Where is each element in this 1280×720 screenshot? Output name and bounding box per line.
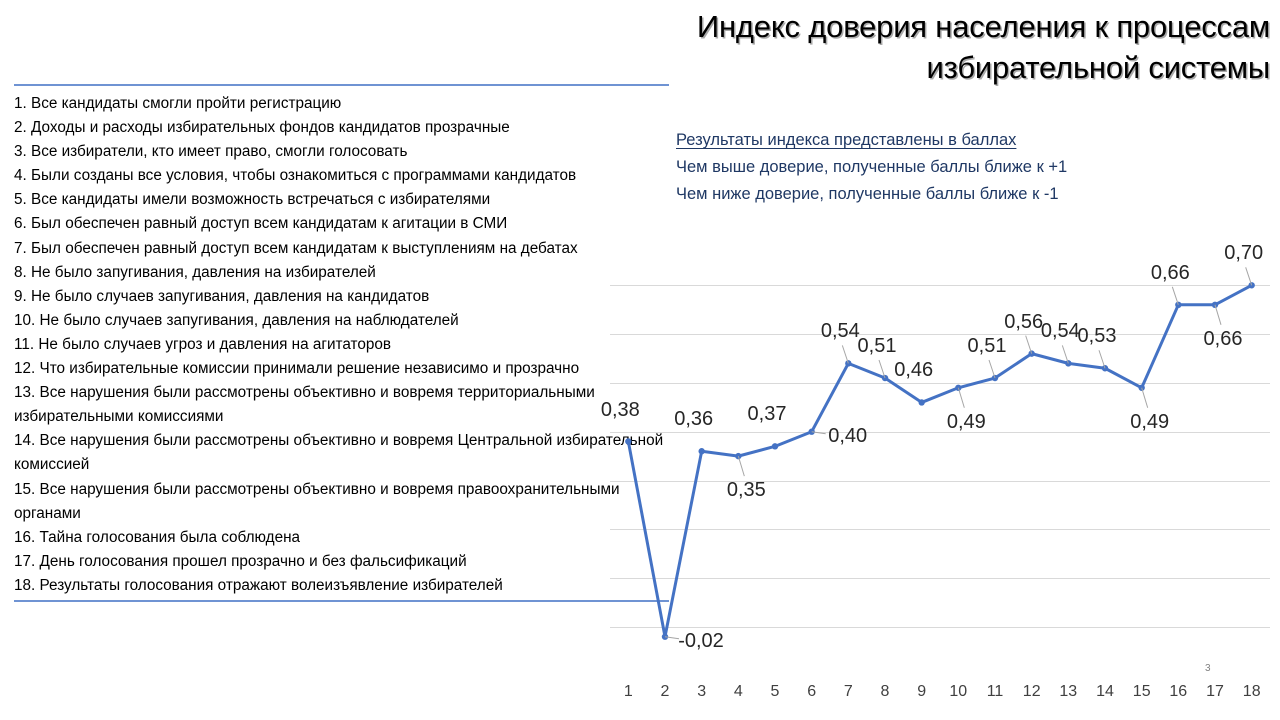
series-marker <box>698 448 704 454</box>
data-label: -0,02 <box>678 631 724 651</box>
label-leader-line <box>1246 267 1252 285</box>
criteria-list: 1. Все кандидаты смогли пройти регистрац… <box>14 92 669 598</box>
list-item: 17. День голосования прошел прозрачно и … <box>14 550 669 574</box>
label-leader-line <box>842 345 848 363</box>
data-label: 0,53 <box>1078 326 1117 346</box>
panel-bottom-divider <box>14 600 669 602</box>
series-marker <box>1212 302 1218 308</box>
data-label: 0,35 <box>727 480 766 500</box>
x-axis-tick-label: 15 <box>1133 684 1151 700</box>
data-label: 0,66 <box>1151 263 1190 283</box>
slide-number: 3 <box>1205 664 1211 674</box>
list-item: 15. Все нарушения были рассмотрены объек… <box>14 478 669 526</box>
x-axis-tick-label: 14 <box>1096 684 1114 700</box>
chart-series-line <box>610 256 1270 666</box>
data-label: 0,66 <box>1204 329 1243 349</box>
x-axis-tick-label: 12 <box>1023 684 1041 700</box>
x-axis-tick-label: 11 <box>987 684 1004 700</box>
x-axis-tick-label: 9 <box>917 684 926 700</box>
series-marker <box>772 443 778 449</box>
list-item: 7. Был обеспечен равный доступ всем канд… <box>14 237 669 261</box>
data-label: 0,49 <box>1130 412 1169 432</box>
data-label: 0,54 <box>1041 321 1080 341</box>
list-item: 5. Все кандидаты имели возможность встре… <box>14 188 669 212</box>
x-axis-tick-label: 10 <box>949 684 967 700</box>
data-label: 0,70 <box>1224 243 1263 263</box>
list-item: 8. Не было запугивания, давления на изби… <box>14 261 669 285</box>
data-label: 0,49 <box>947 412 986 432</box>
x-axis-tick-label: 18 <box>1243 684 1261 700</box>
series-marker <box>1175 302 1181 308</box>
list-item: 1. Все кандидаты смогли пройти регистрац… <box>14 92 669 116</box>
list-item: 3. Все избиратели, кто имеет право, смог… <box>14 140 669 164</box>
x-axis-tick-label: 7 <box>844 684 853 700</box>
series-marker <box>882 375 888 381</box>
data-label: 0,56 <box>1004 312 1043 332</box>
label-leader-line <box>1215 305 1221 325</box>
list-item: 4. Были созданы все условия, чтобы ознак… <box>14 164 669 188</box>
index-scale-note: Результаты индекса представлены в баллах… <box>676 127 1236 208</box>
list-item: 2. Доходы и расходы избирательных фондов… <box>14 116 669 140</box>
list-item: 18. Результаты голосования отражают воле… <box>14 574 669 598</box>
x-axis-tick-label: 2 <box>661 684 670 700</box>
label-leader-line <box>738 456 744 476</box>
x-axis-tick-label: 5 <box>771 684 780 700</box>
chart-plot-area: 0,38-0,020,360,350,370,400,540,510,460,4… <box>610 256 1270 666</box>
series-marker <box>918 399 924 405</box>
trust-index-line-chart: 0,38-0,020,360,350,370,400,540,510,460,4… <box>575 256 1275 720</box>
series-marker <box>955 385 961 391</box>
list-item: 12. Что избирательные комиссии принимали… <box>14 357 669 381</box>
index-scale-high: Чем выше доверие, полученные баллы ближе… <box>676 154 1236 181</box>
list-item: 14. Все нарушения были рассмотрены объек… <box>14 429 669 477</box>
label-leader-line <box>1026 336 1032 354</box>
label-leader-line <box>1142 388 1148 408</box>
label-leader-line <box>1172 287 1178 305</box>
page-title: Индекс доверия населения к процессам изб… <box>520 6 1270 88</box>
x-axis-tick-label: 17 <box>1206 684 1224 700</box>
data-label: 0,54 <box>821 321 860 341</box>
label-leader-line <box>958 388 964 408</box>
x-axis-tick-label: 8 <box>881 684 890 700</box>
series-marker <box>1102 365 1108 371</box>
index-scale-heading: Результаты индекса представлены в баллах <box>676 127 1236 154</box>
x-axis-tick-label: 4 <box>734 684 743 700</box>
series-marker <box>625 438 631 444</box>
x-axis-tick-label: 13 <box>1059 684 1077 700</box>
data-label: 0,51 <box>858 336 897 356</box>
list-item: 6. Был обеспечен равный доступ всем канд… <box>14 212 669 236</box>
data-label: 0,51 <box>968 336 1007 356</box>
x-axis-tick-label: 3 <box>697 684 706 700</box>
data-label: 0,37 <box>748 404 787 424</box>
series-polyline <box>628 285 1251 636</box>
series-marker <box>992 375 998 381</box>
list-item: 11. Не было случаев угроз и давления на … <box>14 333 669 357</box>
x-axis-tick-label: 6 <box>807 684 816 700</box>
index-scale-low: Чем ниже доверие, полученные баллы ближе… <box>676 181 1236 208</box>
list-item: 9. Не было случаев запугивания, давления… <box>14 285 669 309</box>
x-axis-tick-label: 1 <box>624 684 633 700</box>
panel-top-divider <box>14 84 669 86</box>
series-marker <box>845 360 851 366</box>
list-item: 13. Все нарушения были рассмотрены объек… <box>14 381 669 429</box>
data-label: 0,36 <box>674 409 713 429</box>
data-label: 0,38 <box>601 400 640 420</box>
criteria-panel: 1. Все кандидаты смогли пройти регистрац… <box>14 84 669 602</box>
data-label: 0,46 <box>894 360 933 380</box>
series-marker <box>1065 360 1071 366</box>
list-item: 10. Не было случаев запугивания, давлени… <box>14 309 669 333</box>
series-marker <box>1138 385 1144 391</box>
label-leader-line <box>1099 350 1105 368</box>
x-axis-tick-label: 16 <box>1169 684 1187 700</box>
label-leader-line <box>989 360 995 378</box>
data-label: 0,40 <box>828 426 867 446</box>
list-item: 16. Тайна голосования была соблюдена <box>14 526 669 550</box>
